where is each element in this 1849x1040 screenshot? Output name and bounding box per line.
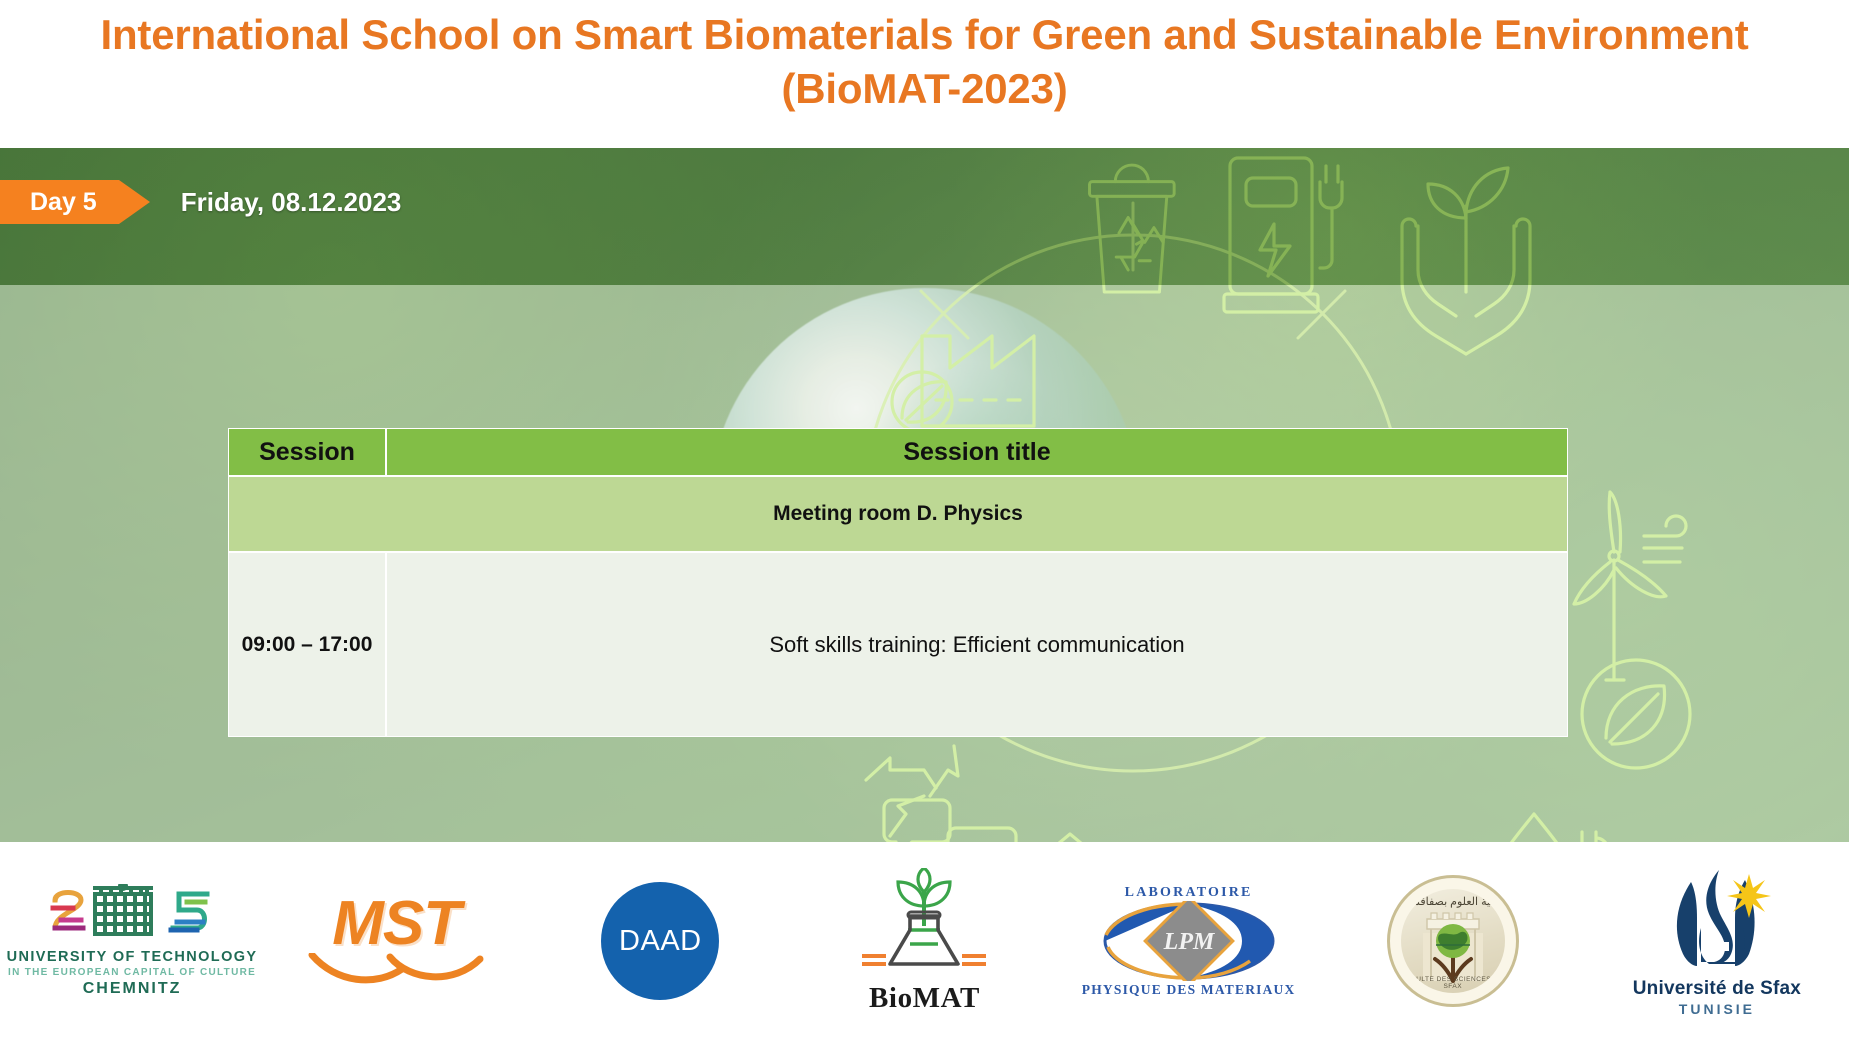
biomat-logo: BioMAT [792,856,1056,1026]
daad-logo: DAAD [528,856,792,1026]
table-row: 09:00 – 17:00 Soft skills training: Effi… [228,552,1568,737]
session-time: 09:00 – 17:00 [228,552,386,737]
schedule-table: Session Session title Meeting room D. Ph… [228,428,1568,737]
column-header-session-title: Session title [386,428,1568,476]
seal-inner: كلية العلوم بصفاقس FACULTE DES SCIENCES … [1401,889,1505,993]
presentation-slide: International School on Smart Biomateria… [0,0,1849,1040]
chemnitz-line-2: IN THE EUROPEAN CAPITAL OF CULTURE [8,967,256,978]
svg-text:LPM: LPM [1162,929,1215,955]
column-header-session: Session [228,428,386,476]
mst-logo: MST [264,856,528,1026]
lpm-eye-emblem-icon: LPM [1094,901,1284,981]
biomat-wordmark: BioMAT [869,982,980,1015]
title-line-1: International School on Smart Biomateria… [100,11,1482,58]
seal-outer-ring: كلية العلوم بصفاقس FACULTE DES SCIENCES … [1387,875,1519,1007]
universite-de-sfax-logo: Université de Sfax TUNISIE [1585,856,1849,1026]
schedule-table-wrapper: Session Session title Meeting room D. Ph… [228,428,1568,737]
faculty-of-sciences-sfax-seal: كلية العلوم بصفاقس FACULTE DES SCIENCES … [1321,856,1585,1026]
seal-arabic-text: كلية العلوم بصفاقس [1401,895,1505,908]
footer-logo-strip: UNIVERSITY OF TECHNOLOGY IN THE EUROPEAN… [0,842,1849,1040]
table-room-row: Meeting room D. Physics [228,476,1568,552]
lpm-line-bottom: PHYSIQUE DES MATERIAUX [1082,982,1296,998]
chemnitz-university-logo: UNIVERSITY OF TECHNOLOGY IN THE EUROPEAN… [0,856,264,1026]
mst-wordmark: MST [332,895,460,954]
day-label: Day 5 [30,188,97,217]
day-chip: Day 5 [0,180,119,224]
lpm-laboratory-logo: LABORATOIRE LPM PHYSIQUE DES MATERIAUX [1057,856,1321,1026]
sfax-university-country: TUNISIE [1679,1001,1755,1017]
day-banner: Day 5 Friday, 08.12.2023 [0,180,401,224]
daad-circle-icon: DAAD [601,882,719,1000]
lpm-line-top: LABORATOIRE [1125,885,1253,901]
slide-title-area: International School on Smart Biomateria… [0,0,1849,148]
biomat-flask-plant-icon [860,868,988,980]
session-title: Soft skills training: Efficient communic… [386,552,1568,737]
day-date-label: Friday, 08.12.2023 [181,187,402,218]
sfax-flame-calligraphy-icon [1657,866,1777,974]
table-header-row: Session Session title [228,428,1568,476]
sfax-university-name: Université de Sfax [1633,978,1801,1000]
meeting-room-label: Meeting room D. Physics [228,476,1568,552]
chemnitz-2025-mark-icon [47,884,217,942]
seal-french-text: FACULTE DES SCIENCES DE SFAX [1401,976,1505,990]
page-title: International School on Smart Biomateria… [45,8,1805,116]
mst-swoosh-icon [306,953,486,987]
chemnitz-line-1: UNIVERSITY OF TECHNOLOGY [7,949,258,965]
chemnitz-line-3: CHEMNITZ [83,980,182,998]
daad-wordmark: DAAD [619,925,702,958]
